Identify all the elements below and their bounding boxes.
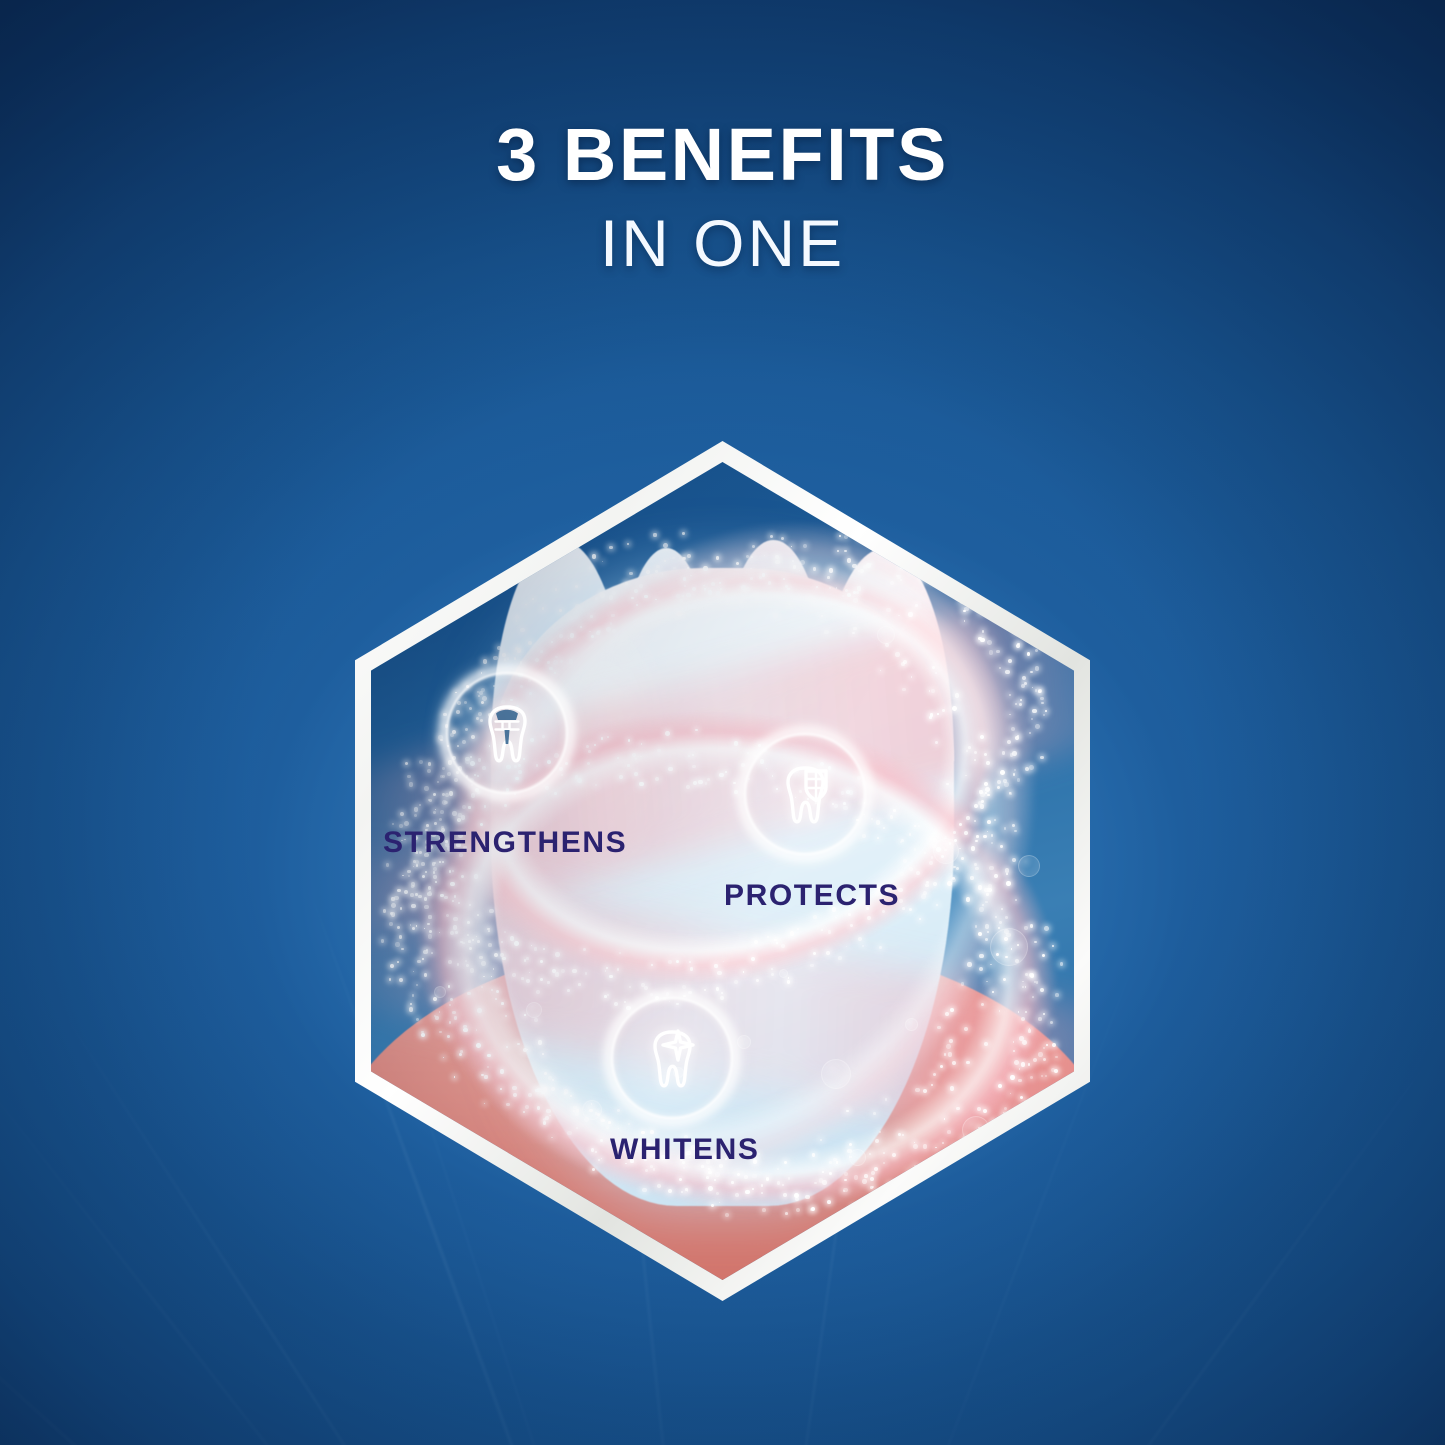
sparkle-particle (847, 593, 851, 597)
sparkle-particle (703, 566, 707, 570)
sparkle-particle (975, 925, 978, 928)
sparkle-particle (447, 1035, 450, 1038)
sparkle-particle (474, 874, 479, 879)
sparkle-particle (520, 661, 523, 664)
sparkle-particle (770, 535, 773, 538)
sparkle-particle (1038, 1017, 1042, 1021)
sparkle-particle (567, 1131, 572, 1136)
sparkle-particle (936, 904, 938, 906)
sparkle-particle (1052, 1043, 1056, 1047)
sparkle-particle (1044, 926, 1049, 931)
sparkle-particle (810, 964, 813, 967)
sparkle-particle (900, 872, 904, 876)
sparkle-particle (641, 983, 645, 987)
sparkle-particle (421, 862, 425, 866)
sparkle-particle (1019, 703, 1022, 706)
sparkle-particle (736, 562, 739, 565)
sparkle-particle (680, 599, 683, 602)
sparkle-particle (999, 667, 1001, 669)
sparkle-particle (572, 969, 576, 973)
sparkle-particle (788, 1177, 791, 1180)
sparkle-particle (968, 746, 971, 749)
sparkle-particle (814, 1182, 817, 1185)
sparkle-particle (890, 815, 893, 818)
tooth-shield-grid-icon (746, 735, 864, 853)
sparkle-particle (416, 864, 418, 866)
sparkle-particle (1017, 778, 1021, 782)
sparkle-particle (588, 750, 591, 753)
sparkle-particle (838, 956, 842, 960)
sparkle-particle (986, 981, 988, 983)
sparkle-particle (526, 979, 530, 983)
sparkle-particle (454, 895, 456, 897)
sparkle-particle (488, 930, 490, 932)
sparkle-particle (1012, 824, 1015, 827)
sparkle-particle (773, 613, 778, 618)
sparkle-particle (481, 1074, 483, 1076)
sparkle-particle (538, 1040, 542, 1044)
sparkle-particle (409, 1007, 413, 1011)
sparkle-particle (864, 1174, 868, 1178)
benefit-icon-protects[interactable] (746, 735, 864, 853)
sparkle-particle (412, 994, 414, 996)
sparkle-particle (956, 1107, 960, 1111)
sparkle-particle (433, 875, 436, 878)
sparkle-particle (909, 867, 913, 871)
sparkle-particle (1024, 926, 1027, 929)
sparkle-particle (971, 846, 975, 850)
sparkle-particle (446, 914, 449, 917)
sparkle-particle (400, 812, 404, 816)
sparkle-particle (961, 982, 965, 986)
sparkle-particle (953, 831, 956, 834)
sparkle-particle (950, 1008, 954, 1012)
sparkle-particle (425, 871, 428, 874)
sparkle-particle (740, 598, 743, 601)
sparkle-particle (1015, 899, 1017, 901)
sparkle-particle (839, 535, 841, 537)
sparkle-particle (959, 848, 961, 850)
sparkle-particle (731, 1181, 734, 1184)
sparkle-particle (399, 935, 403, 939)
sparkle-particle (985, 924, 989, 928)
sparkle-particle (484, 805, 486, 807)
benefit-icon-whitens[interactable] (613, 999, 731, 1117)
sparkle-particle (570, 633, 574, 637)
sparkle-particle (935, 741, 938, 744)
sparkle-particle (516, 620, 518, 622)
sparkle-particle (653, 1168, 656, 1171)
sparkle-particle (852, 564, 856, 568)
sparkle-particle (952, 706, 957, 711)
sparkle-particle (820, 1139, 822, 1141)
sparkle-particle (549, 1115, 551, 1117)
sparkle-particle (468, 940, 471, 943)
sparkle-particle (964, 1027, 968, 1031)
sparkle-particle (1010, 1075, 1015, 1080)
sparkle-particle (974, 863, 977, 866)
sparkle-particle (768, 581, 772, 585)
sparkle-particle (1011, 727, 1015, 731)
bubble (434, 986, 446, 998)
sparkle-particle (811, 1207, 815, 1211)
sparkle-particle (987, 640, 992, 645)
sparkle-particle (1004, 782, 1009, 787)
sparkle-particle (540, 960, 543, 963)
sparkle-particle (913, 1144, 918, 1149)
sparkle-particle (978, 932, 982, 936)
sparkle-particle (589, 566, 593, 570)
sparkle-particle (902, 907, 905, 910)
sparkle-particle (1008, 659, 1012, 663)
sparkle-particle (452, 811, 457, 816)
sparkle-particle (1036, 981, 1039, 984)
sparkle-particle (521, 977, 524, 980)
sparkle-particle (677, 611, 682, 616)
sparkle-particle (964, 831, 968, 835)
sparkle-particle (554, 792, 557, 795)
sparkle-particle (983, 835, 987, 839)
sparkle-particle (784, 1161, 787, 1164)
sparkle-particle (821, 615, 823, 617)
sparkle-particle (925, 884, 929, 888)
sparkle-particle (985, 787, 990, 792)
sparkle-particle (681, 1191, 683, 1193)
sparkle-particle (506, 1103, 510, 1107)
bubble (737, 1035, 751, 1049)
sparkle-particle (976, 835, 979, 838)
sparkle-particle (423, 950, 428, 955)
sparkle-particle (903, 660, 907, 664)
sparkle-particle (414, 807, 418, 811)
sparkle-particle (883, 827, 885, 829)
sparkle-particle (918, 825, 920, 827)
sparkle-particle (591, 1148, 594, 1151)
sparkle-particle (575, 609, 577, 611)
sparkle-particle (974, 804, 978, 808)
sparkle-particle (987, 931, 989, 933)
sparkle-particle (966, 1061, 970, 1065)
sparkle-particle (997, 780, 1001, 784)
sparkle-particle (552, 1079, 554, 1081)
sparkle-particle (1004, 827, 1006, 829)
sparkle-particle (695, 729, 698, 732)
sparkle-particle (428, 915, 431, 918)
sparkle-particle (735, 1193, 739, 1197)
sparkle-particle (463, 1028, 467, 1032)
sparkle-particle (569, 616, 573, 620)
sparkle-particle (564, 1092, 566, 1094)
sparkle-particle (683, 577, 686, 580)
sparkle-particle (514, 941, 519, 946)
sparkle-particle (984, 1042, 988, 1046)
sparkle-particle (1016, 644, 1020, 648)
sparkle-particle (389, 922, 393, 926)
sparkle-particle (452, 870, 454, 872)
sparkle-particle (574, 615, 578, 619)
sparkle-particle (984, 888, 989, 893)
sparkle-particle (775, 560, 779, 564)
sparkle-particle (452, 1011, 455, 1014)
sparkle-particle (450, 998, 453, 1001)
sparkle-particle (984, 782, 988, 786)
sparkle-particle (1034, 941, 1036, 943)
sparkle-particle (829, 568, 833, 572)
sparkle-particle (416, 984, 418, 986)
sparkle-particle (846, 946, 847, 947)
sparkle-particle (540, 978, 543, 981)
sparkle-particle (985, 901, 987, 903)
sparkle-particle (999, 1010, 1000, 1011)
sparkle-particle (1051, 1068, 1055, 1072)
sparkle-particle (634, 772, 638, 776)
sparkle-particle (546, 1109, 550, 1113)
sparkle-particle (933, 882, 937, 886)
sparkle-particle (1001, 908, 1003, 910)
sparkle-particle (439, 861, 441, 863)
sparkle-particle (979, 790, 982, 793)
sparkle-particle (534, 947, 537, 950)
sparkle-particle (609, 546, 613, 550)
sparkle-particle (708, 1186, 713, 1191)
sparkle-particle (655, 570, 658, 573)
sparkle-particle (777, 1168, 779, 1170)
sparkle-particle (911, 676, 912, 677)
sparkle-particle (966, 897, 970, 901)
sparkle-particle (468, 806, 470, 808)
sparkle-particle (994, 874, 998, 878)
sparkle-particle (433, 867, 437, 871)
sparkle-particle (397, 889, 400, 892)
sparkle-particle (862, 945, 864, 947)
sparkle-particle (535, 1089, 539, 1093)
bubble (526, 1002, 542, 1018)
sparkle-particle (549, 667, 552, 670)
tooth-enamel-bricks-icon (448, 674, 566, 792)
sparkle-particle (1055, 1056, 1058, 1059)
sparkle-particle (975, 867, 979, 871)
bubble (1018, 855, 1040, 877)
sparkle-particle (448, 960, 452, 964)
sparkle-particle (979, 954, 984, 959)
sparkle-particle (493, 968, 495, 970)
sparkle-particle (994, 819, 996, 821)
sparkle-particle (989, 866, 994, 871)
sparkle-particle (489, 909, 494, 914)
sparkle-particle (392, 823, 394, 825)
sparkle-particle (853, 598, 858, 603)
sparkle-particle (777, 1181, 780, 1184)
sparkle-particle (445, 793, 449, 797)
sparkle-particle (1004, 1107, 1007, 1110)
sparkle-particle (1021, 684, 1025, 688)
sparkle-particle (845, 589, 848, 592)
sparkle-particle (1041, 1075, 1043, 1077)
sparkle-particle (826, 951, 830, 955)
sparkle-particle (750, 577, 753, 580)
sparkle-particle (809, 596, 812, 599)
sparkle-particle (595, 597, 597, 599)
sparkle-particle (532, 598, 534, 600)
sparkle-particle (424, 973, 427, 976)
benefit-label-whitens: WHITENS (610, 1133, 760, 1167)
sparkle-particle (409, 782, 413, 786)
sparkle-particle (734, 741, 739, 746)
sparkle-particle (465, 960, 467, 962)
sparkle-particle (692, 754, 694, 756)
sparkle-particle (583, 948, 586, 951)
sparkle-particle (454, 1076, 455, 1077)
bubble (877, 626, 895, 644)
sparkle-particle (668, 1189, 672, 1193)
sparkle-particle (988, 884, 992, 888)
sparkle-particle (745, 1190, 749, 1194)
sparkle-particle (919, 918, 921, 920)
sparkle-particle (836, 1161, 839, 1164)
sparkle-particle (942, 709, 945, 712)
sparkle-particle (959, 823, 963, 827)
sparkle-particle (500, 953, 504, 957)
tooth-sparkle-icon (613, 999, 731, 1117)
sparkle-particle (435, 881, 437, 883)
sparkle-particle (725, 771, 727, 773)
sparkle-particle (433, 871, 436, 874)
sparkle-particle (1012, 858, 1016, 862)
sparkle-particle (1027, 652, 1030, 655)
benefit-icon-strengthens[interactable] (448, 674, 566, 792)
sparkle-particle (930, 713, 933, 716)
sparkle-particle (706, 1176, 709, 1179)
sparkle-particle (487, 928, 490, 931)
sparkle-particle (871, 1171, 875, 1175)
sparkle-particle (690, 967, 694, 971)
sparkle-particle (453, 917, 457, 921)
sparkle-particle (676, 594, 680, 598)
sparkle-particle (890, 581, 894, 585)
sparkle-particle (547, 661, 550, 664)
sparkle-particle (479, 956, 483, 960)
sparkle-particle (534, 1018, 538, 1022)
sparkle-particle (792, 560, 794, 562)
sparkle-particle (991, 834, 993, 836)
sparkle-particle (821, 929, 823, 931)
sparkle-particle (908, 612, 912, 616)
sparkle-particle (715, 1172, 720, 1177)
sparkle-particle (663, 543, 668, 548)
sparkle-particle (1022, 676, 1026, 680)
sparkle-particle (974, 820, 976, 822)
sparkle-particle (997, 786, 1000, 789)
sparkle-particle (990, 964, 992, 966)
sparkle-particle (744, 1175, 748, 1179)
sparkle-particle (835, 917, 836, 918)
sparkle-particle (873, 1112, 876, 1115)
sparkle-particle (449, 870, 451, 872)
sparkle-particle (639, 584, 643, 588)
sparkle-particle (458, 902, 460, 904)
sparkle-particle (428, 934, 432, 938)
sparkle-particle (1022, 986, 1024, 988)
sparkle-particle (1025, 973, 1028, 976)
sparkle-particle (1022, 1040, 1027, 1045)
sparkle-particle (787, 588, 789, 590)
sparkle-particle (504, 804, 507, 807)
sparkle-particle (867, 916, 871, 920)
sparkle-particle (1055, 993, 1059, 997)
sparkle-particle (842, 595, 844, 597)
sparkle-particle (439, 1011, 440, 1012)
sparkle-particle (559, 609, 562, 612)
sparkle-particle (391, 897, 394, 900)
sparkle-particle (1042, 954, 1045, 957)
sparkle-particle (383, 909, 386, 912)
sparkle-particle (595, 1151, 597, 1153)
sparkle-particle (961, 857, 964, 860)
sparkle-particle (381, 939, 384, 942)
sparkle-particle (631, 597, 634, 600)
sparkle-particle (937, 713, 939, 715)
sparkle-particle (805, 1195, 810, 1200)
sparkle-particle (746, 587, 749, 590)
sparkle-particle (500, 1069, 505, 1074)
sparkle-particle (690, 575, 692, 577)
sparkle-particle (463, 1025, 467, 1029)
sparkle-particle (513, 1093, 517, 1097)
sparkle-particle (1040, 697, 1044, 701)
sparkle-particle (720, 588, 722, 590)
sparkle-particle (719, 773, 723, 777)
sparkle-particle (606, 627, 611, 632)
sparkle-particle (1014, 830, 1017, 833)
sparkle-particle (629, 572, 633, 576)
sparkle-particle (653, 533, 656, 536)
sparkle-particle (668, 767, 672, 771)
sparkle-particle (813, 915, 817, 919)
sparkle-particle (500, 1088, 502, 1090)
sparkle-particle (860, 569, 864, 573)
sparkle-particle (600, 593, 605, 598)
sparkle-particle (455, 931, 458, 934)
sparkle-particle (902, 1134, 904, 1136)
sparkle-particle (983, 1109, 987, 1113)
sparkle-particle (964, 620, 966, 622)
benefit-label-strengthens: STRENGTHENS (383, 826, 627, 860)
sparkle-particle (734, 980, 738, 984)
sparkle-particle (1029, 765, 1034, 770)
sparkle-particle (1003, 978, 1006, 981)
sparkle-particle (1052, 945, 1054, 947)
sparkle-particle (970, 876, 973, 879)
bubble (582, 1100, 602, 1120)
sparkle-particle (495, 998, 497, 1000)
bubble (933, 838, 959, 864)
sparkle-particle (461, 875, 464, 878)
sparkle-particle (461, 815, 466, 820)
sparkle-particle (1005, 916, 1008, 919)
sparkle-particle (1018, 1079, 1022, 1083)
sparkle-particle (555, 588, 557, 590)
sparkle-particle (979, 967, 983, 971)
sparkle-particle (481, 986, 483, 988)
sparkle-particle (761, 1192, 763, 1194)
sparkle-particle (1005, 868, 1009, 872)
sparkle-particle (751, 957, 755, 961)
sparkle-particle (525, 604, 526, 605)
sparkle-particle (683, 557, 686, 560)
sparkle-particle (411, 885, 414, 888)
sparkle-particle (785, 1212, 788, 1215)
sparkle-particle (1035, 689, 1037, 691)
